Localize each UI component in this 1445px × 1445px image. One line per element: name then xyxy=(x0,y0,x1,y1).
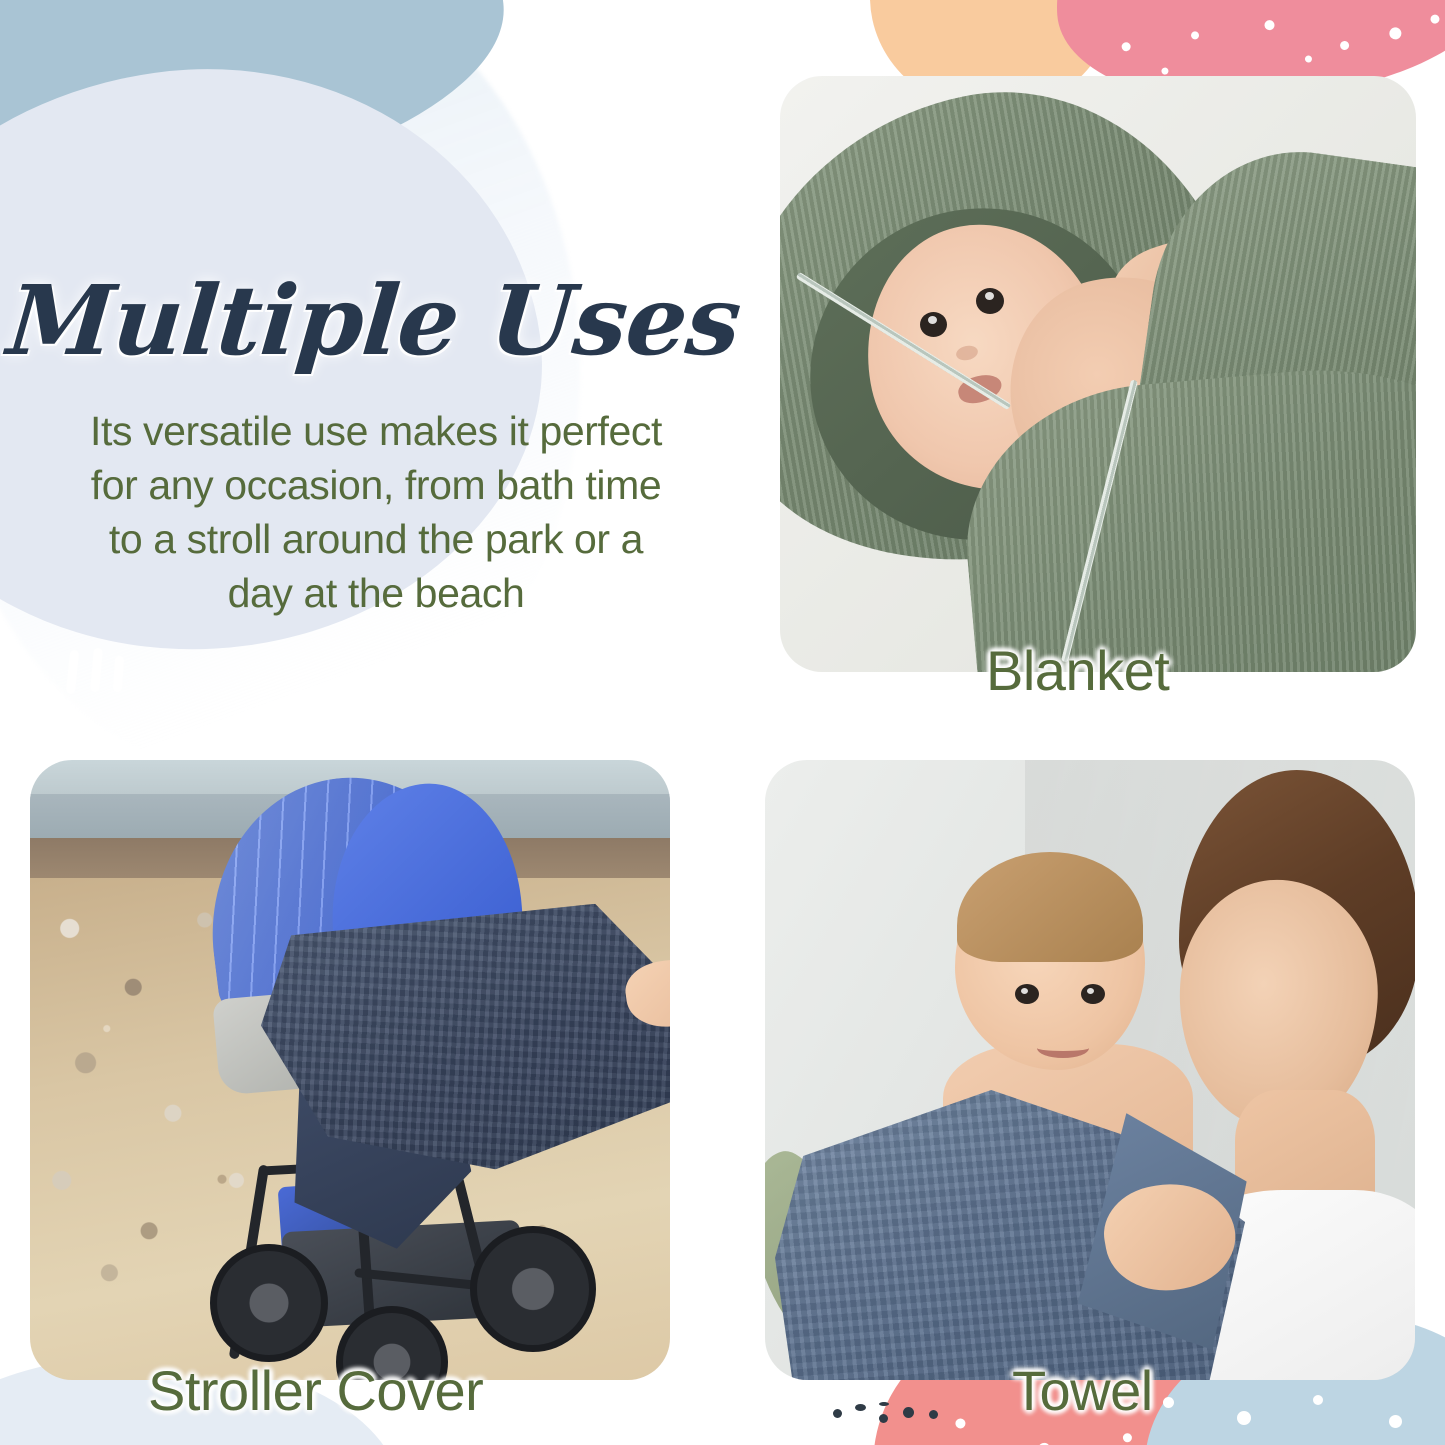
baby-eye-right-icon xyxy=(1081,984,1105,1004)
caption-towel: Towel xyxy=(1012,1358,1153,1423)
decor-blob-top-left-blue xyxy=(0,0,520,235)
panel-blanket[interactable] xyxy=(780,76,1416,672)
multiple-uses-infographic: Multiple Uses Its versatile use makes it… xyxy=(0,0,1445,1445)
tick-mark-icon xyxy=(113,656,124,693)
panel-stroller-cover[interactable] xyxy=(30,760,670,1380)
blanket-photo xyxy=(780,76,1416,672)
page-title: Multiple Uses xyxy=(0,272,744,370)
eye-highlight xyxy=(1021,988,1028,994)
baby-eye-left-icon xyxy=(1015,984,1039,1004)
eye-highlight xyxy=(985,292,994,300)
text-column: Multiple Uses Its versatile use makes it… xyxy=(0,272,740,620)
tick-mark-icon xyxy=(66,650,80,695)
caption-blanket: Blanket xyxy=(986,638,1169,703)
stroller-wheel xyxy=(210,1244,328,1362)
eye-highlight xyxy=(1087,988,1094,994)
description-text: Its versatile use makes it perfect for a… xyxy=(0,404,740,620)
stroller-wheel xyxy=(470,1226,596,1352)
panel-towel[interactable] xyxy=(765,760,1415,1380)
eye-highlight xyxy=(928,316,937,324)
caption-stroller-cover: Stroller Cover xyxy=(148,1358,483,1423)
stroller-photo xyxy=(30,760,670,1380)
baby-smile xyxy=(1037,1038,1089,1058)
towel-photo xyxy=(765,760,1415,1380)
tick-mark-icon xyxy=(90,648,103,693)
